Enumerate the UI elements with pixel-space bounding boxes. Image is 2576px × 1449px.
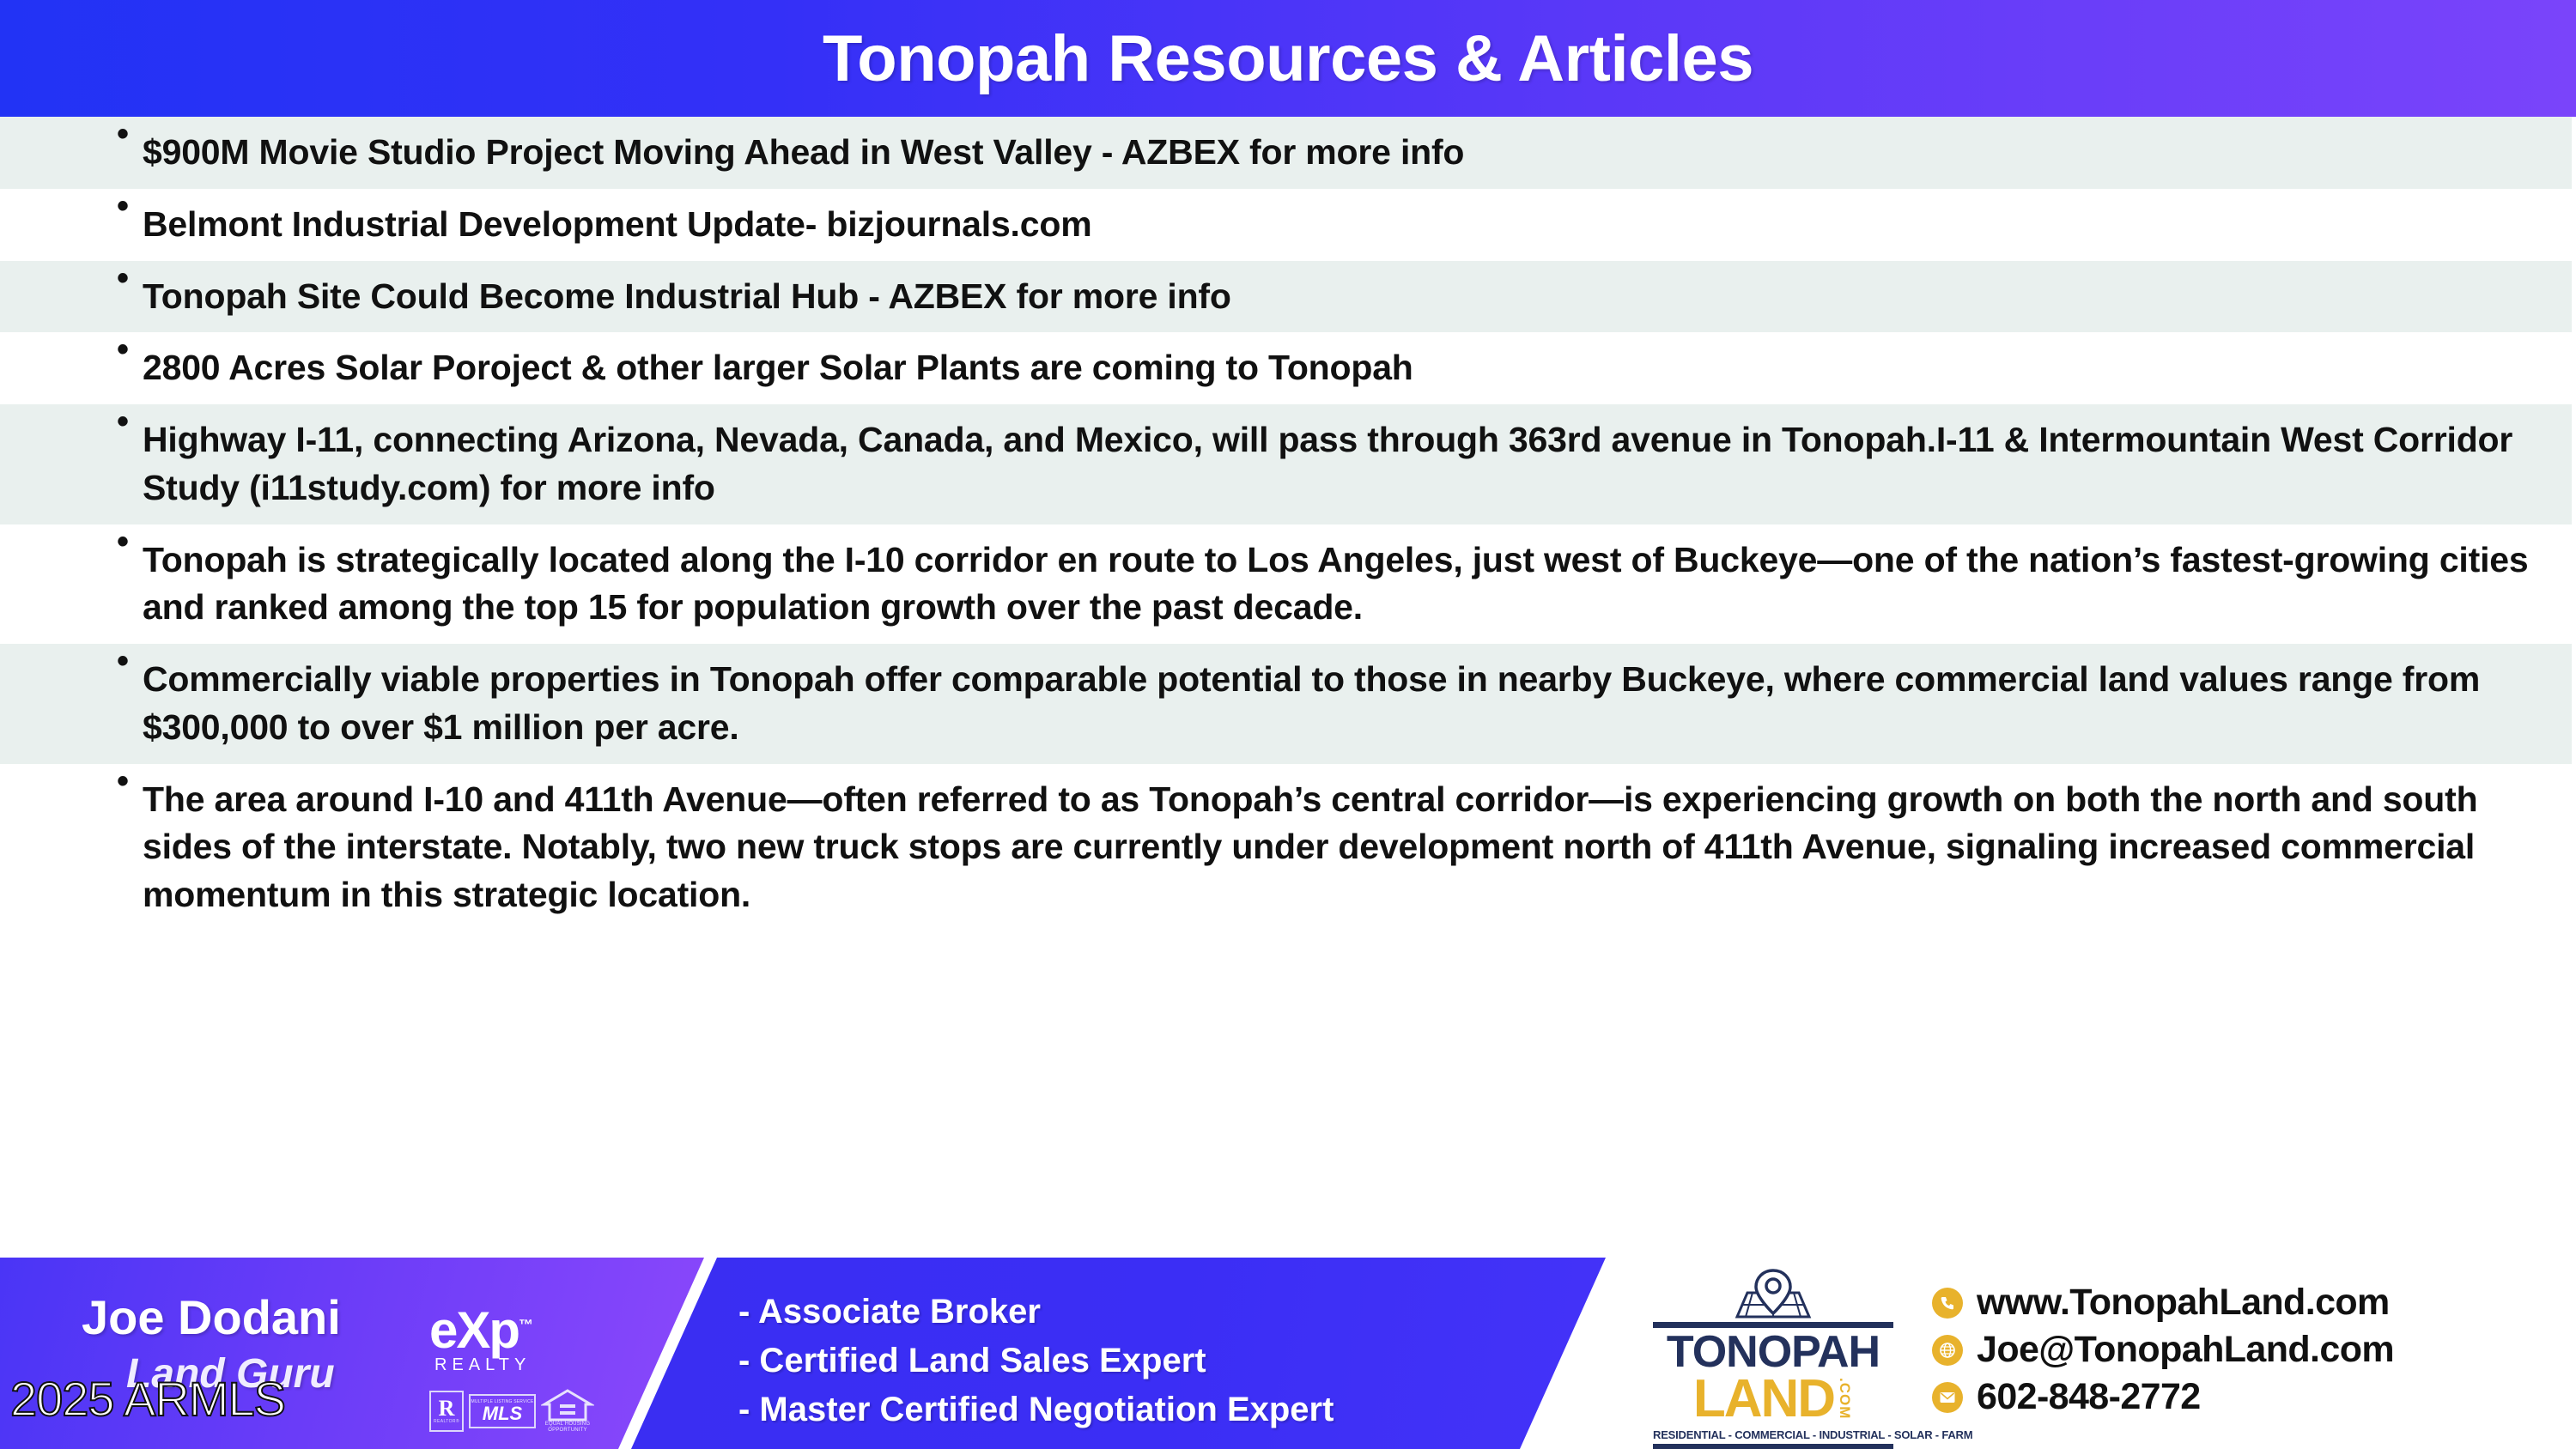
contact-email[interactable]: Joe@TonopahLand.com [1932, 1329, 2394, 1371]
credentials-list: - Associate Broker - Certified Land Sale… [738, 1288, 1334, 1434]
list-item-text: Tonopah is strategically located along t… [143, 537, 2530, 633]
page-header: Tonopah Resources & Articles [0, 0, 2576, 117]
exp-name: eXp [429, 1301, 519, 1359]
bullet-icon: • [117, 764, 136, 798]
logo-bottom-word: LAND [1693, 1374, 1834, 1425]
list-item-text: Tonopah Site Could Become Industrial Hub… [143, 273, 1231, 321]
bullet-icon: • [117, 189, 136, 223]
logo-tagline: RESIDENTIAL - COMMERCIAL - INDUSTRIAL - … [1653, 1428, 1893, 1441]
logo-domain-suffix: .COM [1836, 1378, 1853, 1419]
realtor-badge-icon: R REALTOR® [429, 1391, 464, 1432]
website-text: www.TonopahLand.com [1977, 1282, 2390, 1324]
bullet-icon: • [117, 524, 136, 559]
contact-phone[interactable]: 602-848-2772 [1932, 1376, 2394, 1418]
list-item: • Tonopah Site Could Become Industrial H… [0, 261, 2572, 333]
tonopah-land-logo: TONOPAH LAND .COM RESIDENTIAL - COMMERCI… [1653, 1269, 1893, 1449]
credential-item: - Certified Land Sales Expert [738, 1337, 1334, 1385]
trademark-icon: ™ [519, 1317, 533, 1333]
articles-list: • $900M Movie Studio Project Moving Ahea… [0, 117, 2576, 1258]
credential-item: - Master Certified Negotiation Expert [738, 1385, 1334, 1434]
logo-top-word: TONOPAH [1653, 1331, 1893, 1374]
mls-label: MLS [483, 1404, 522, 1423]
bullet-icon: • [117, 332, 136, 367]
list-item-text: The area around I-10 and 411th Avenue—of… [143, 776, 2530, 919]
contact-website[interactable]: www.TonopahLand.com [1932, 1282, 2394, 1324]
credential-item: - Associate Broker [738, 1288, 1334, 1337]
mls-badge-icon: MULTIPLE LISTING SERVICE MLS [469, 1394, 536, 1428]
contact-list: www.TonopahLand.com Joe@TonopahLand.com … [1932, 1282, 2394, 1423]
agent-name: Joe Dodani [82, 1294, 442, 1342]
logo-bottom-rule [1653, 1444, 1893, 1449]
map-pin-solar-icon [1722, 1269, 1825, 1322]
bullet-icon: • [117, 404, 136, 439]
list-item: • Tonopah is strategically located along… [0, 524, 2572, 645]
bullet-icon: • [117, 644, 136, 678]
list-item-text: Commercially viable properties in Tonopa… [143, 656, 2530, 752]
list-item: • 2800 Acres Solar Poroject & other larg… [0, 332, 2572, 404]
list-item: • Belmont Industrial Development Update-… [0, 189, 2572, 261]
logo-bottom-row: LAND .COM [1653, 1374, 1893, 1425]
email-text: Joe@TonopahLand.com [1977, 1329, 2394, 1371]
bullet-icon: • [117, 117, 136, 151]
list-item-text: Highway I-11, connecting Arizona, Nevada… [143, 416, 2530, 512]
exp-wordmark: eXp™ [429, 1307, 601, 1354]
agent-brand-block: Joe Dodani Land Guru [82, 1294, 442, 1395]
eho-caption: EQUAL HOUSING OPPORTUNITY [541, 1422, 594, 1434]
list-item-text: Belmont Industrial Development Update- b… [143, 201, 1091, 249]
page-title: Tonopah Resources & Articles [823, 21, 1753, 96]
equal-housing-badge-icon: EQUAL HOUSING OPPORTUNITY [541, 1389, 594, 1434]
agent-tagline: Land Guru [126, 1354, 442, 1395]
house-icon [541, 1389, 594, 1423]
list-item: • $900M Movie Studio Project Moving Ahea… [0, 117, 2572, 189]
globe-icon [1932, 1335, 1963, 1366]
bullet-icon: • [117, 261, 136, 295]
exp-realty-logo: eXp™ REALTY [429, 1307, 601, 1375]
list-item-text: $900M Movie Studio Project Moving Ahead … [143, 129, 1464, 177]
list-item: • Highway I-11, connecting Arizona, Neva… [0, 404, 2572, 524]
list-item: • The area around I-10 and 411th Avenue—… [0, 764, 2572, 931]
list-item-text: 2800 Acres Solar Poroject & other larger… [143, 344, 1413, 392]
list-item: • Commercially viable properties in Tono… [0, 644, 2572, 764]
realtor-caption: REALTOR® [434, 1419, 459, 1424]
compliance-badges: R REALTOR® MULTIPLE LISTING SERVICE MLS … [429, 1389, 594, 1434]
phone-text: 602-848-2772 [1977, 1376, 2201, 1418]
envelope-icon [1932, 1382, 1963, 1413]
realtor-letter: R [439, 1398, 455, 1418]
phone-icon [1932, 1288, 1963, 1319]
